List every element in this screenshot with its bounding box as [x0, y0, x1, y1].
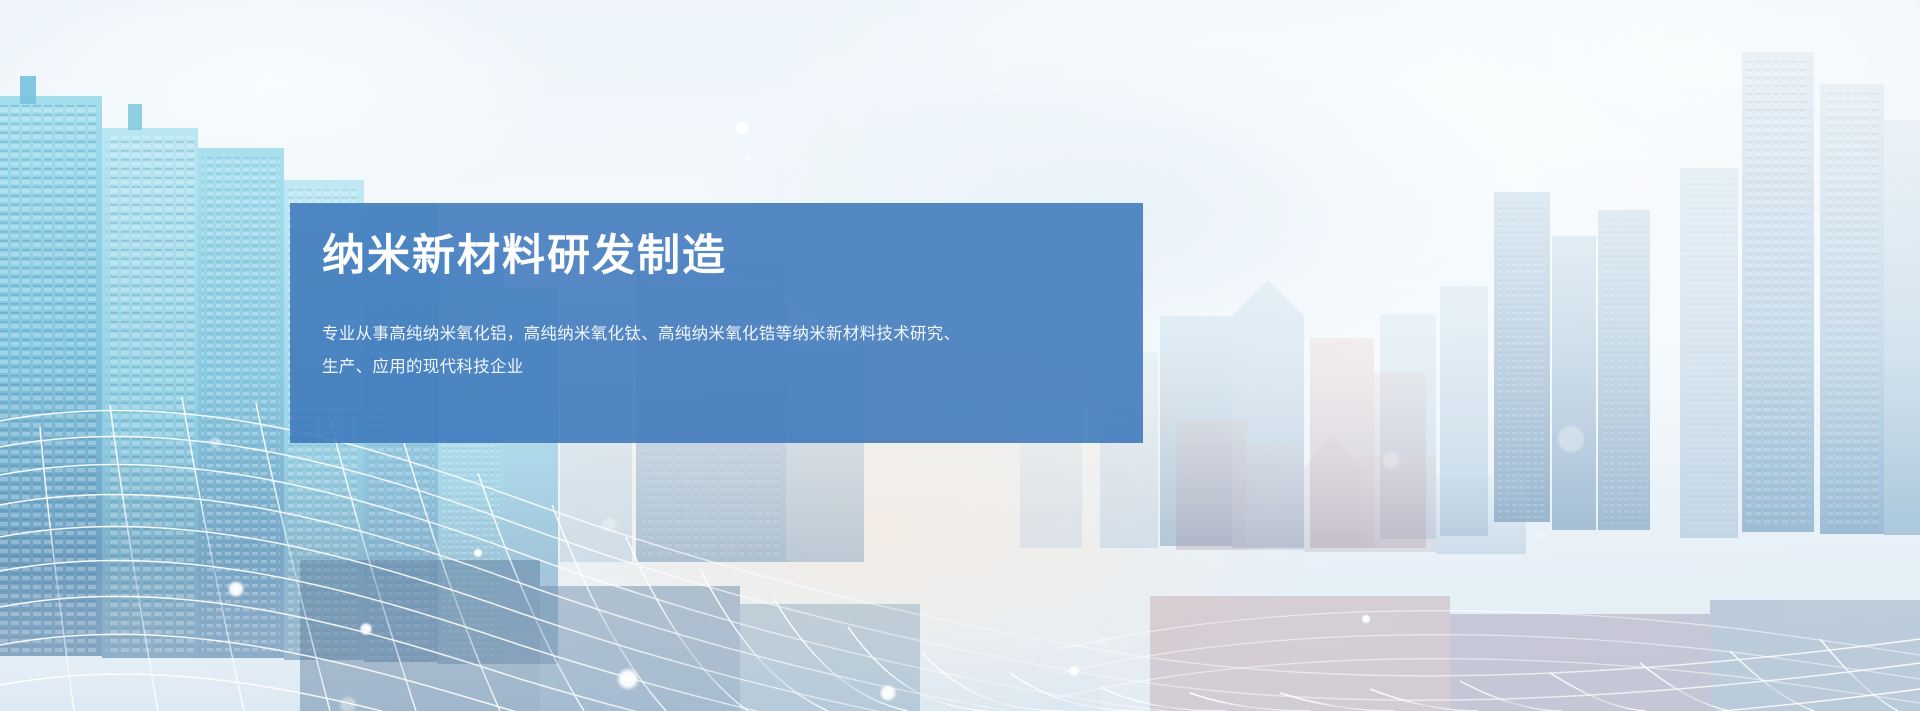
hero-subtitle: 专业从事高纯纳米氧化铝，高纯纳米氧化钛、高纯纳米氧化锆等纳米新材料技术研究、 生… [322, 317, 1112, 383]
hero-subtitle-line-2: 生产、应用的现代科技企业 [322, 350, 1112, 383]
page-title: 纳米新材料研发制造 [322, 233, 727, 280]
hero-text-panel: 纳米新材料研发制造 专业从事高纯纳米氧化铝，高纯纳米氧化钛、高纯纳米氧化锆等纳米… [290, 203, 1143, 443]
hero-banner: 纳米新材料研发制造 专业从事高纯纳米氧化铝，高纯纳米氧化钛、高纯纳米氧化锆等纳米… [0, 0, 1920, 711]
hero-subtitle-line-1: 专业从事高纯纳米氧化铝，高纯纳米氧化钛、高纯纳米氧化锆等纳米新材料技术研究、 [322, 317, 1112, 350]
